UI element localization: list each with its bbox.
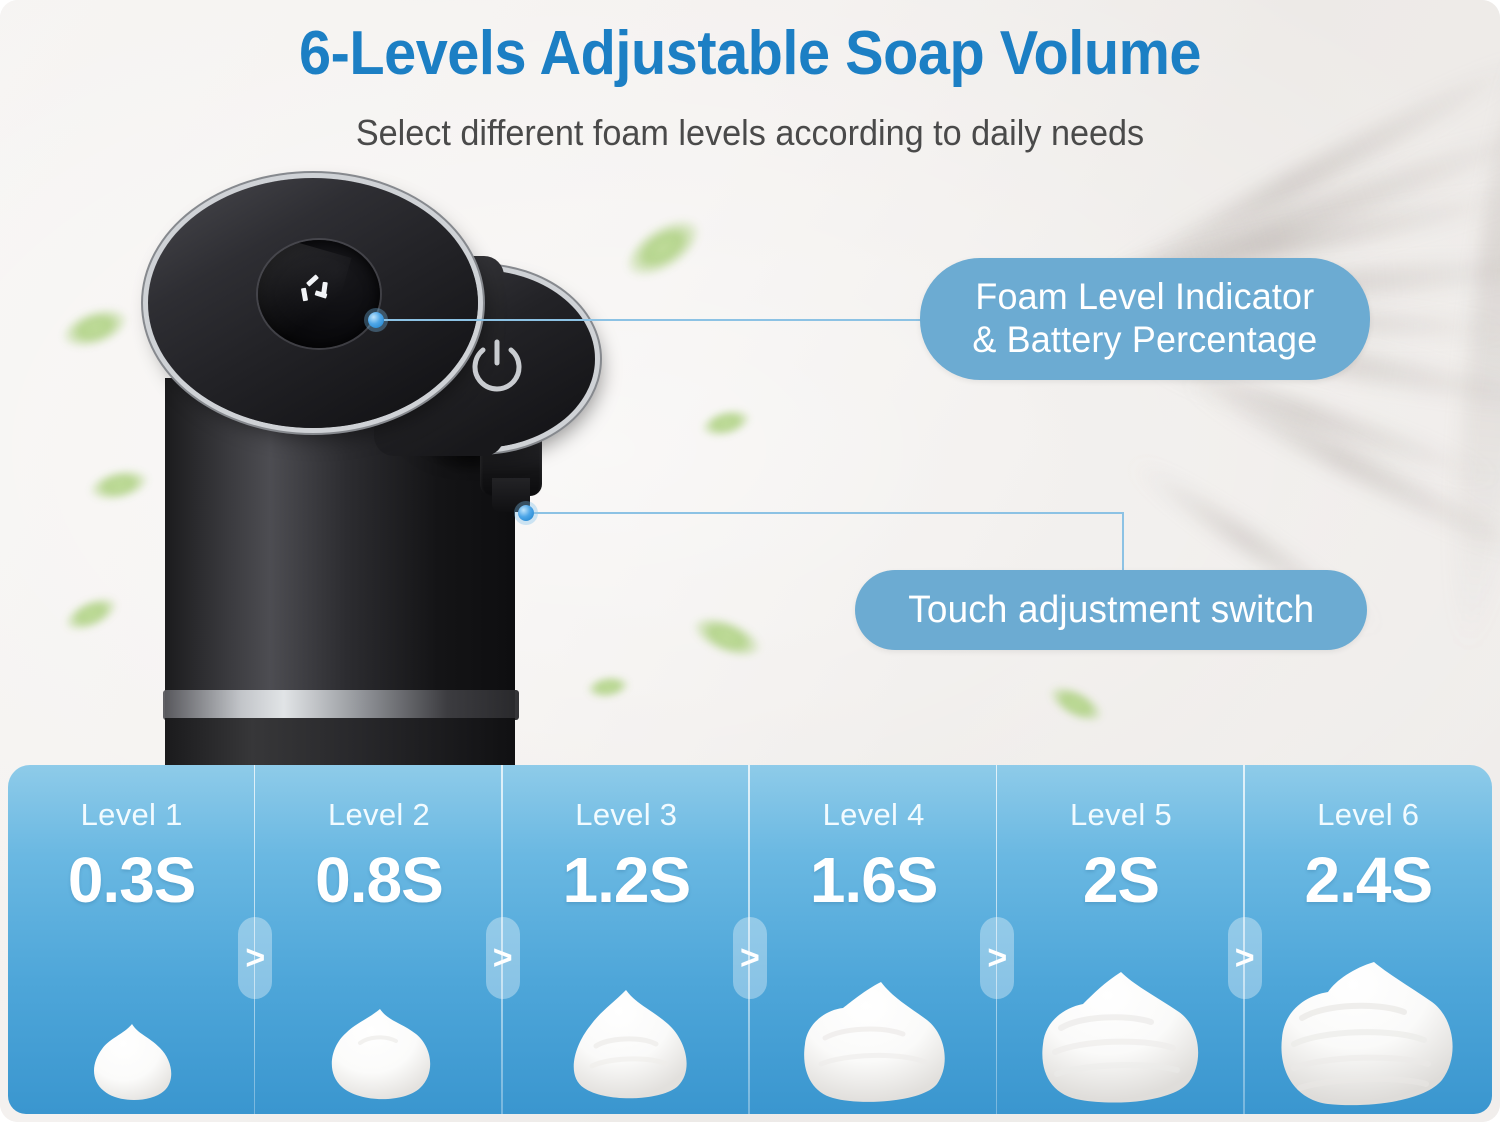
callout-anchor-dot-foam-level <box>368 312 384 328</box>
soap-levels-panel: Level 1 0.3S > Level 2 0.8S <box>8 765 1492 1114</box>
level-step-chevron-icon: > <box>238 917 272 999</box>
level-label: Level 6 <box>1317 797 1419 833</box>
level-cell-4[interactable]: Level 4 1.6S > <box>750 765 997 1114</box>
callout-touch-adjustment-switch: Touch adjustment switch <box>855 570 1367 650</box>
level-label: Level 4 <box>823 797 925 833</box>
callout-touch-switch-text: Touch adjustment switch <box>908 588 1314 632</box>
callout-line-2: & Battery Percentage <box>972 319 1317 360</box>
level-cell-1[interactable]: Level 1 0.3S > <box>8 765 255 1114</box>
callout-anchor-dot-touch-switch <box>518 505 534 521</box>
power-icon[interactable] <box>468 336 526 394</box>
foam-blob-icon <box>72 1016 192 1108</box>
level-step-chevron-icon: > <box>980 917 1014 999</box>
level-duration: 0.8S <box>315 843 443 917</box>
infographic-canvas: 6-Levels Adjustable Soap Volume Select d… <box>0 0 1500 1122</box>
dispenser-chrome-ring <box>163 690 519 720</box>
dispenser-top-plate <box>138 178 598 508</box>
foam-blob-icon <box>1023 966 1219 1108</box>
callout-leader-line-touch-switch-drop <box>1122 512 1124 572</box>
foam-blob-wrapper <box>1245 958 1492 1108</box>
level-cell-6[interactable]: Level 6 2.4S <box>1245 765 1492 1114</box>
soap-dispenser-image <box>130 178 600 778</box>
foam-level-display-icon <box>258 240 380 348</box>
level-label: Level 1 <box>81 797 183 833</box>
page-subtitle: Select different foam levels according t… <box>38 112 1463 154</box>
callout-foam-level-text: Foam Level Indicator & Battery Percentag… <box>972 276 1317 362</box>
foam-blob-wrapper <box>997 958 1244 1108</box>
callout-leader-line-touch-switch <box>534 512 1124 514</box>
callout-foam-level-indicator: Foam Level Indicator & Battery Percentag… <box>920 258 1370 380</box>
foam-blob-wrapper <box>750 958 997 1108</box>
foam-blob-wrapper <box>503 958 750 1108</box>
level-cell-5[interactable]: Level 5 2S > <box>997 765 1244 1114</box>
level-label: Level 5 <box>1070 797 1172 833</box>
page-title: 6-Levels Adjustable Soap Volume <box>53 18 1448 89</box>
level-step-chevron-icon: > <box>1228 917 1262 999</box>
callout-line-1: Foam Level Indicator <box>975 276 1314 317</box>
level-duration: 2S <box>1083 843 1159 917</box>
level-label: Level 3 <box>575 797 677 833</box>
foam-blob-icon <box>546 984 706 1108</box>
foam-blob-wrapper <box>255 958 502 1108</box>
level-step-chevron-icon: > <box>486 917 520 999</box>
foam-blob-icon <box>785 976 963 1108</box>
level-duration: 2.4S <box>1304 843 1432 917</box>
foam-blob-wrapper <box>8 958 255 1108</box>
callout-leader-line-foam-level <box>384 319 930 321</box>
foam-blob-icon <box>308 1003 450 1108</box>
level-cell-3[interactable]: Level 3 1.2S > <box>503 765 750 1114</box>
level-label: Level 2 <box>328 797 430 833</box>
level-step-chevron-icon: > <box>733 917 767 999</box>
level-duration: 0.3S <box>68 843 196 917</box>
level-cell-2[interactable]: Level 2 0.8S > <box>255 765 502 1114</box>
level-duration: 1.6S <box>810 843 938 917</box>
level-duration: 1.2S <box>562 843 690 917</box>
foam-blob-icon <box>1262 958 1474 1108</box>
